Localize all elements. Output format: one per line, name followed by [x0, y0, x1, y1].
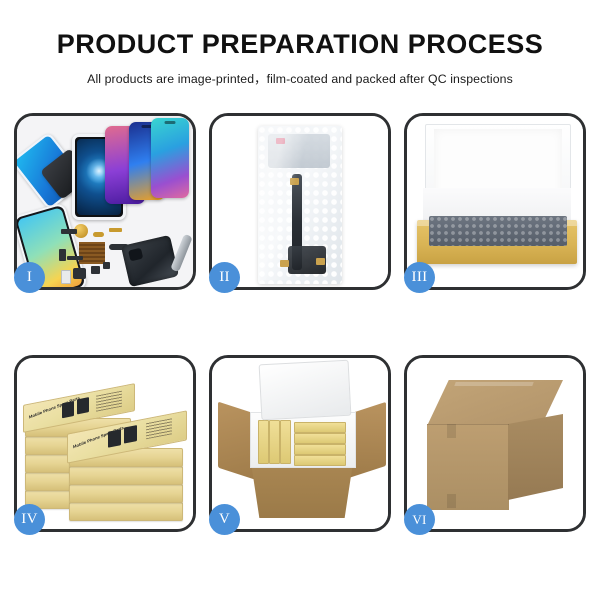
step-badge-3: III [404, 262, 435, 293]
box-stack-icon: Mobile Phone Spare Parts Mobile Phone Sp… [23, 372, 191, 520]
step-image-3 [407, 116, 583, 287]
sensor-part-icon [103, 262, 110, 269]
carton-seam [427, 424, 509, 425]
step-panel-2: II [209, 113, 391, 290]
inner-box-icon [294, 455, 346, 466]
bubble-wrap-bag-icon [258, 126, 342, 284]
step-badge-4: IV [14, 504, 45, 535]
inner-box-icon [280, 420, 291, 464]
step-image-1 [17, 116, 193, 287]
inner-box-icon [294, 422, 346, 433]
page-subtitle: All products are image-printed，film-coat… [0, 69, 600, 87]
product-preparation-infographic: PRODUCT PREPARATION PROCESS All products… [0, 0, 600, 600]
steps-grid: I II [14, 113, 586, 532]
carton-flap-mark [447, 494, 456, 508]
phone-gradient-icon [151, 118, 189, 198]
step-badge-2: II [209, 262, 240, 293]
step-badge-6: VI [404, 504, 435, 535]
page-title: PRODUCT PREPARATION PROCESS [0, 30, 600, 60]
step-image-4: Mobile Phone Spare Parts Mobile Phone Sp… [17, 358, 193, 529]
small-part-icon [59, 249, 66, 261]
grey-foam-insert-icon [429, 216, 567, 246]
connector-icon [67, 256, 83, 260]
flex-strip-icon [109, 228, 122, 232]
step-panel-6: VI [404, 355, 586, 532]
foam-lid-icon [259, 360, 352, 421]
step-panel-5: V [209, 355, 391, 532]
carton-front-icon [427, 424, 509, 510]
carton-side-icon [508, 414, 563, 500]
step-badge-5: V [209, 504, 240, 535]
inner-box-icon [269, 420, 280, 464]
phone-housing-icon [121, 235, 179, 287]
button-part-icon [91, 266, 100, 274]
inner-box-icon [258, 420, 269, 464]
packing-tape-icon [454, 382, 533, 386]
header: PRODUCT PREPARATION PROCESS All products… [0, 0, 600, 87]
step-image-2 [212, 116, 388, 287]
step-panel-4: Mobile Phone Spare Parts Mobile Phone Sp… [14, 355, 196, 532]
inner-box-icon [294, 433, 346, 444]
gold-contact-icon [93, 232, 104, 237]
sim-tray-icon [61, 270, 71, 284]
step-panel-1: I [14, 113, 196, 290]
inner-box-icon [294, 444, 346, 455]
carton-flap-mark [447, 424, 456, 438]
camera-module-icon [73, 268, 86, 279]
speaker-part-icon [61, 229, 77, 234]
step-badge-1: I [14, 262, 45, 293]
chip-array-icon [79, 242, 105, 264]
step-panel-3: III [404, 113, 586, 290]
step-image-6 [407, 358, 583, 529]
step-image-5 [212, 358, 388, 529]
